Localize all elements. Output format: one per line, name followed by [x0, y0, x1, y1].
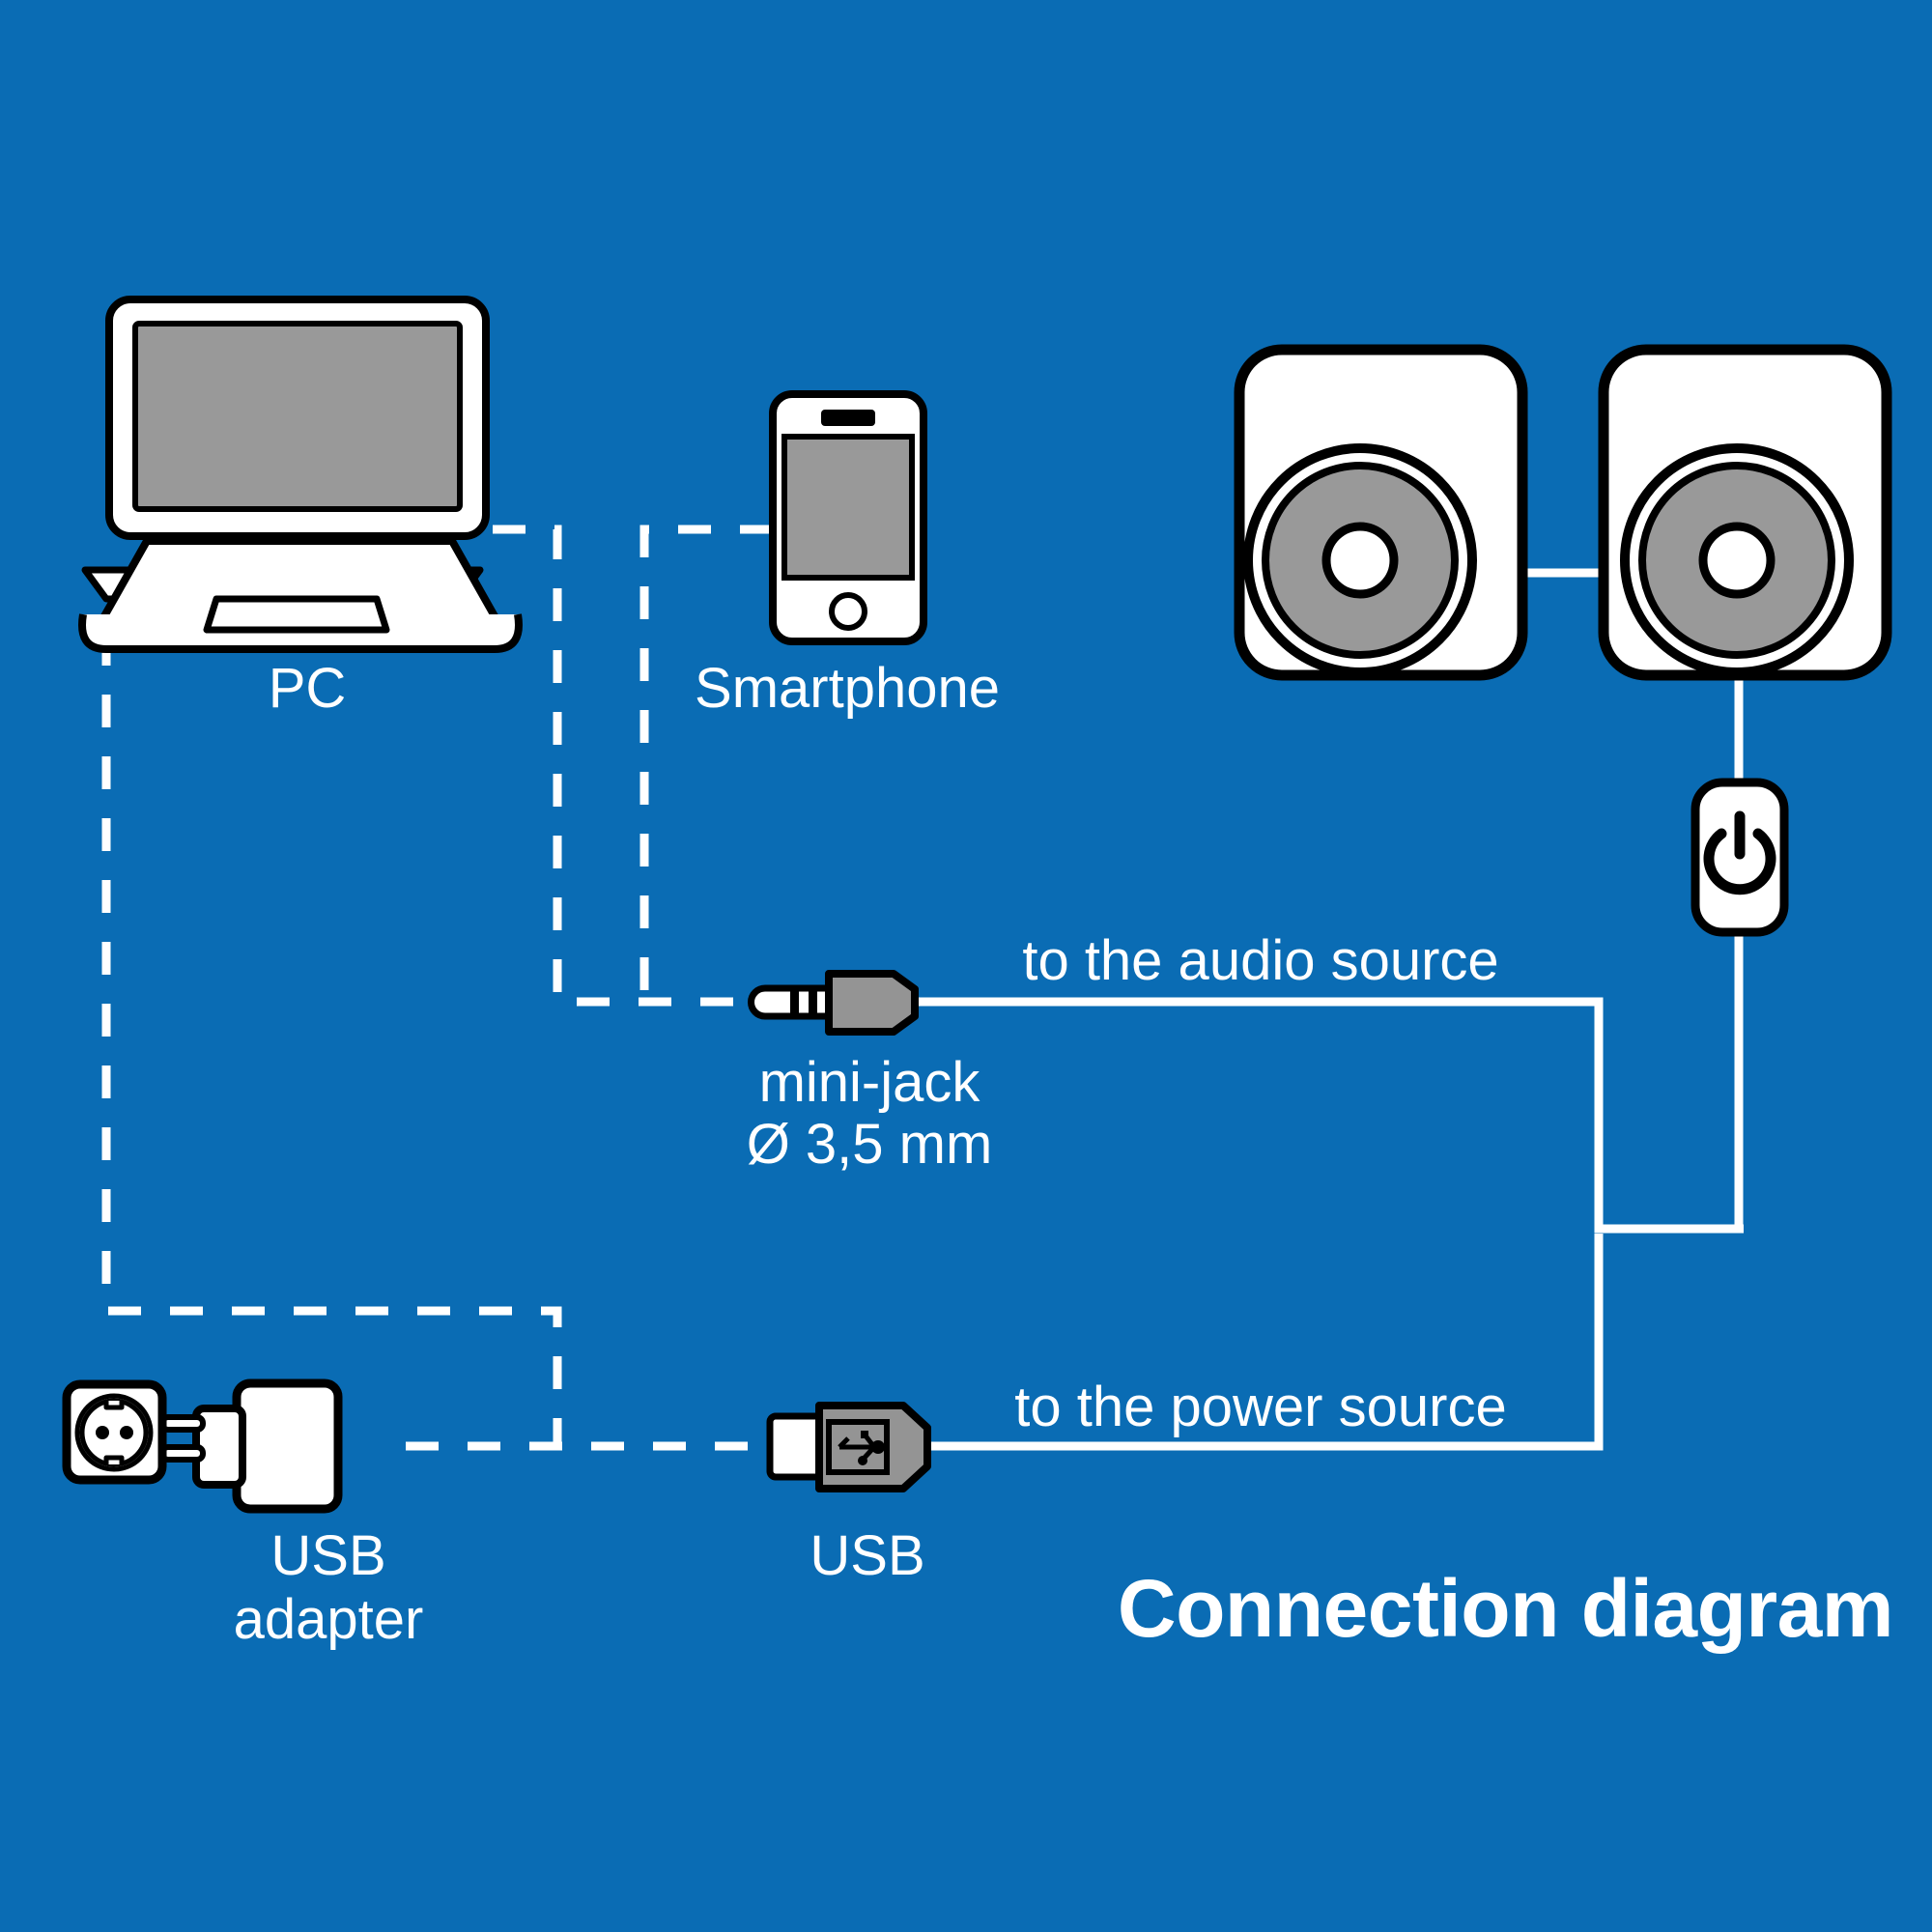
- label-smartphone: Smartphone: [695, 657, 1000, 721]
- connection-diagram: PC Smartphone to the audio source mini-j…: [0, 0, 1932, 1932]
- dashed-wires: [106, 529, 773, 1446]
- wire-pc-to-minijack: [493, 529, 766, 1002]
- smartphone-device: [773, 394, 923, 641]
- wire-pc-to-usb: [106, 633, 773, 1446]
- mini-jack-connector: [752, 974, 916, 1032]
- phone-screen: [784, 437, 912, 578]
- solid-wires: [913, 573, 1744, 1446]
- wall-socket: [67, 1384, 162, 1480]
- label-to-audio-source: to the audio source: [1022, 929, 1498, 993]
- usb-connector: [770, 1406, 927, 1489]
- label-usb-adapter-line2: adapter: [234, 1588, 424, 1652]
- wire-smartphone-to-minijack: [644, 529, 773, 1002]
- speaker-right: [1604, 350, 1887, 675]
- label-minijack-line1: mini-jack: [759, 1051, 980, 1115]
- phone-speaker-slot: [821, 410, 875, 426]
- label-usb: USB: [810, 1524, 924, 1588]
- label-minijack-line2: Ø 3,5 mm: [747, 1113, 993, 1177]
- power-button[interactable]: [1695, 782, 1784, 932]
- page-title: Connection diagram: [1118, 1563, 1893, 1656]
- wire-audio-source: [913, 1002, 1744, 1229]
- label-to-power-source: to the power source: [1014, 1376, 1506, 1439]
- speaker-left: [1239, 350, 1522, 675]
- usb-adapter: [162, 1383, 338, 1509]
- pc-laptop: [82, 299, 519, 649]
- label-usb-adapter-line1: USB: [270, 1524, 385, 1588]
- phone-home-button: [832, 595, 865, 628]
- label-pc: PC: [269, 657, 347, 721]
